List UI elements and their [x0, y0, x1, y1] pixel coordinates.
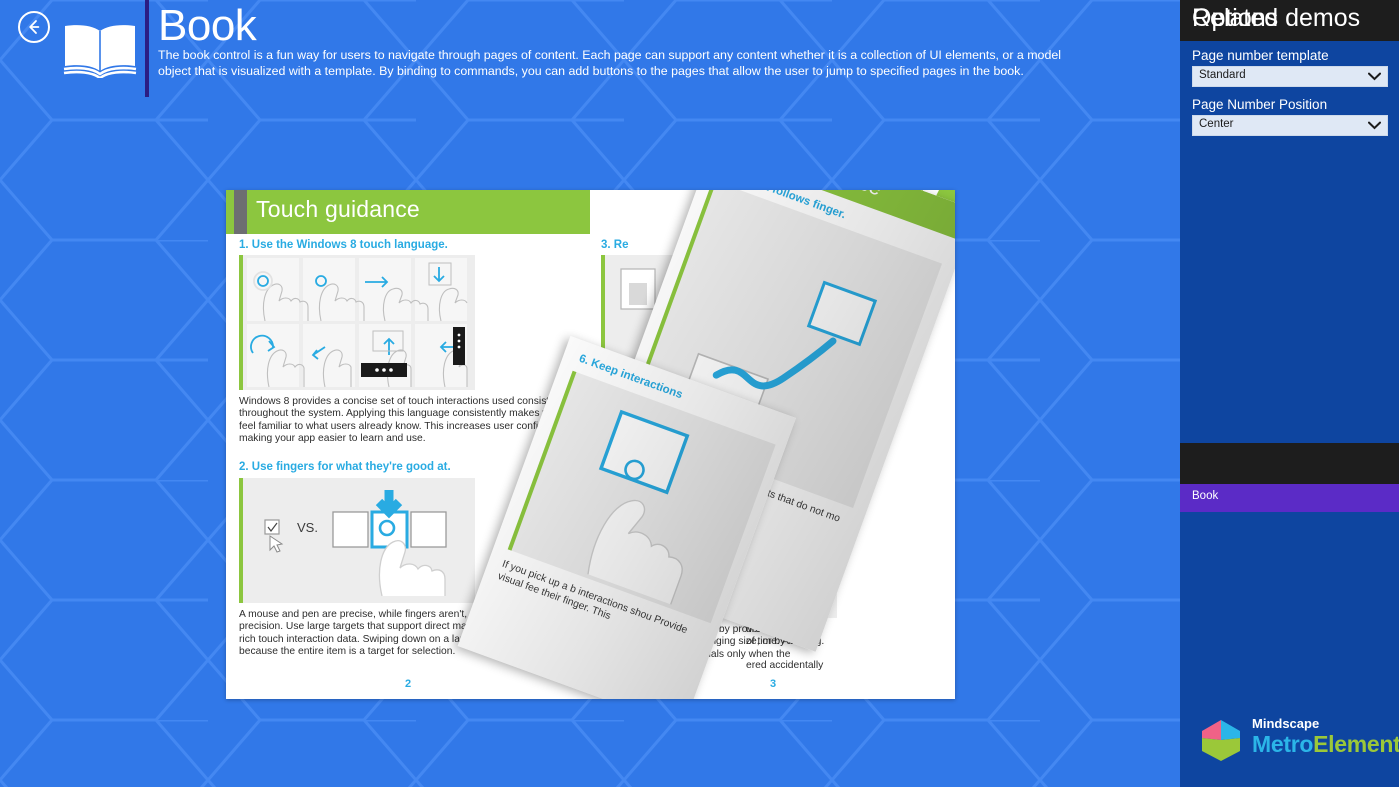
mindscape-hexagon-logo-icon — [1198, 718, 1244, 762]
page-heading: Touch guidance — [256, 196, 420, 223]
page-number-position-value: Center — [1199, 118, 1234, 130]
related-demos-title-bar — [1180, 443, 1399, 484]
related-demo-label: Book — [1192, 490, 1218, 502]
option-field-page-number-position: Page Number Position Center — [1192, 97, 1388, 136]
options-panel: Options Page number template Standard Pa… — [1180, 0, 1399, 787]
logo-product: MetroElements — [1252, 731, 1399, 758]
open-book-icon — [62, 22, 138, 78]
related-demos-title: Related demos — [1192, 4, 1360, 33]
svg-text:VS.: VS. — [297, 520, 318, 535]
option-field-page-number-template: Page number template Standard — [1192, 48, 1388, 87]
page-header-gray-tab — [234, 190, 247, 234]
chevron-down-icon — [1368, 121, 1381, 130]
page-number-position-select[interactable]: Center — [1192, 115, 1388, 136]
chevron-down-icon — [1368, 72, 1381, 81]
option-label-page-number-position: Page Number Position — [1192, 97, 1388, 112]
mindscape-logo: Mindscape MetroElements — [1198, 710, 1388, 768]
page-number-left: 2 — [226, 678, 590, 690]
book-control[interactable]: Touch guidance 1. Use the Windows 8 touc… — [226, 190, 955, 699]
page-number-template-value: Standard — [1199, 69, 1246, 81]
revealed-line-7: ered accidentally — [746, 660, 946, 672]
finger-targets-illustration: VS. — [239, 478, 475, 603]
section-title-1: 1. Use the Windows 8 touch language. — [239, 239, 448, 251]
logo-brand: Mindscape — [1252, 716, 1319, 731]
list-circle-icon — [592, 198, 620, 226]
page-title: Book — [158, 0, 256, 54]
section-title-3: 3. Re — [601, 239, 629, 251]
page-header: Book The book control is a fun way for u… — [0, 0, 1180, 100]
section-title-2: 2. Use fingers for what they're good at. — [239, 461, 451, 473]
back-button[interactable] — [18, 11, 50, 43]
logo-product-elements: Elements — [1313, 731, 1399, 757]
page-description: The book control is a fun way for users … — [158, 47, 1088, 80]
revealed-line-6: of time. Avoid — [746, 636, 946, 648]
option-label-page-number-template: Page number template — [1192, 48, 1388, 63]
page-number-template-select[interactable]: Standard — [1192, 66, 1388, 87]
header-divider — [145, 0, 149, 97]
logo-product-metro: Metro — [1252, 731, 1313, 757]
touch-language-illustration — [239, 255, 475, 390]
back-arrow-icon — [25, 18, 43, 36]
related-demo-item-book[interactable]: Book — [1180, 484, 1399, 512]
